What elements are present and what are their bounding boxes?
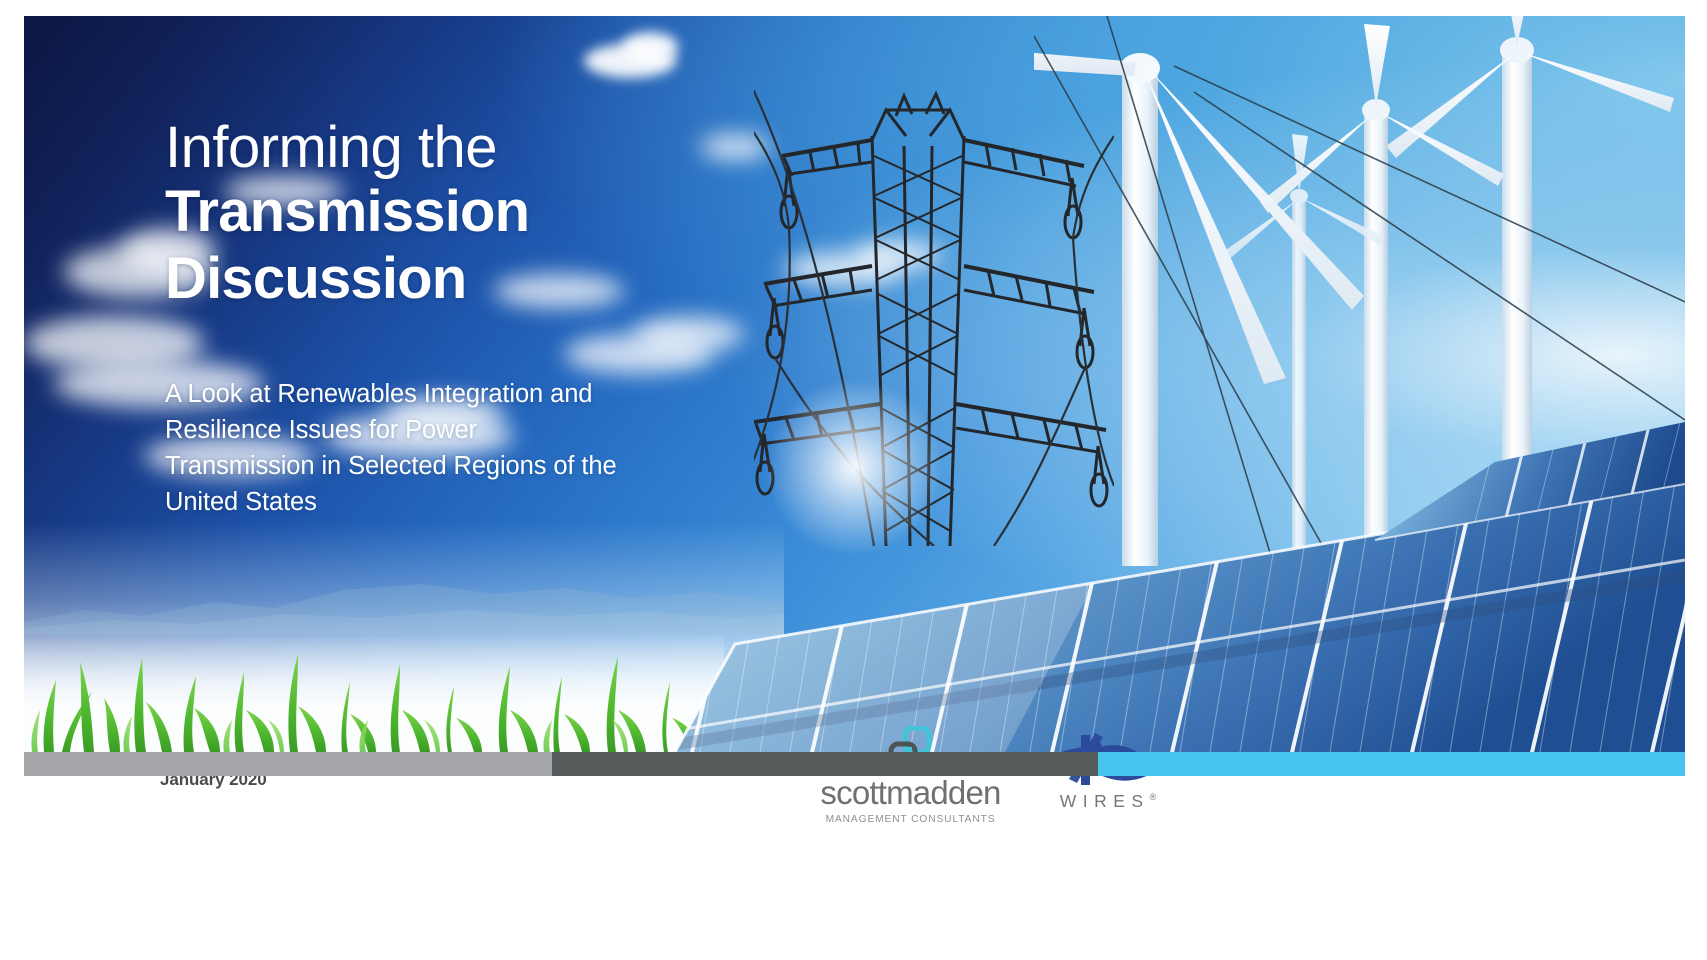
grass-icon xyxy=(24,622,724,752)
accent-bar-segment-cyan xyxy=(1098,752,1685,776)
accent-bar xyxy=(24,752,1685,776)
wires-wordmark: WIRES® xyxy=(1040,791,1170,812)
solar-panel-icon xyxy=(675,422,1685,752)
scottmadden-tagline: MANAGEMENT CONSULTANTS xyxy=(803,814,1018,825)
accent-bar-segment-dark-gray xyxy=(552,752,1098,776)
cloud-icon xyxy=(622,32,678,62)
wires-wordmark-text: WIRES xyxy=(1060,791,1150,811)
logo-row: scottmadden MANAGEMENT CONSULTANTS xyxy=(780,726,1200,846)
subtitle: A Look at Renewables Integration and Res… xyxy=(165,377,625,521)
title-line-2: Transmission xyxy=(165,178,685,245)
page-title: Informing the Transmission Discussion xyxy=(165,118,685,312)
title-line-1: Informing the xyxy=(165,118,685,178)
title-slide: Informing the Transmission Discussion A … xyxy=(0,0,1707,960)
title-line-3: Discussion xyxy=(165,245,685,312)
accent-bar-segment-light-gray xyxy=(24,752,552,776)
registered-icon: ® xyxy=(1150,792,1157,802)
cloud-icon xyxy=(634,316,744,352)
scottmadden-wordmark: scottmadden xyxy=(803,776,1018,809)
